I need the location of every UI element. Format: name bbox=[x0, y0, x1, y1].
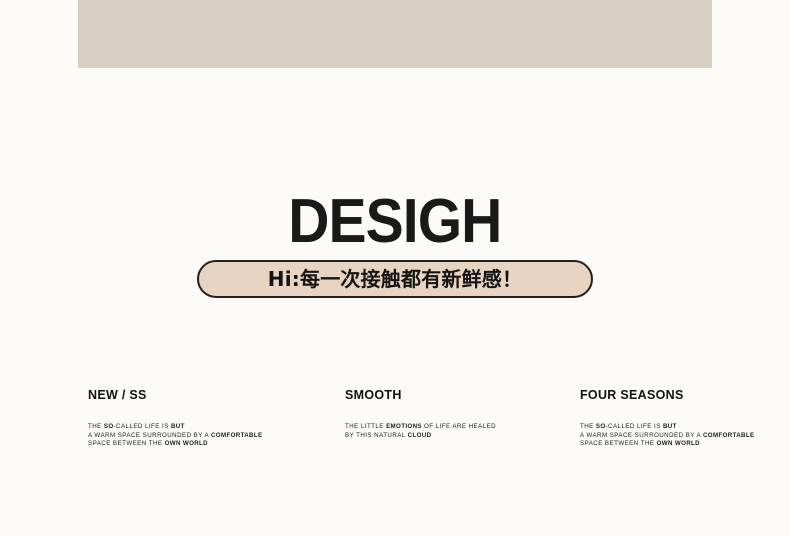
tagline-text: Hi:每一次接触都有新鲜感！ bbox=[268, 268, 522, 290]
feature-body: THE SO-CALLED LIFE IS BUTA WARM SPACE SU… bbox=[88, 423, 318, 449]
feature-body-line: THE LITTLE EMOTIONS OF LIFE ARE HEALED bbox=[345, 423, 560, 432]
page-root: DESIGH Hi:每一次接触都有新鲜感！ NEW / SS THE SO-CA… bbox=[0, 0, 790, 536]
tagline-pill: Hi:每一次接触都有新鲜感！ bbox=[197, 260, 593, 298]
feature-title: NEW / SS bbox=[88, 388, 318, 402]
feature-body-line: A WARM SPACE SURROUNDED BY A COMFORTABLE bbox=[88, 432, 318, 441]
feature-body-line: THE SO-CALLED LIFE IS BUT bbox=[88, 423, 318, 432]
feature-body-line: SPACE BETWEEN THE OWN WORLD bbox=[580, 440, 785, 449]
feature-body-line: A WARM SPACE SURROUNDED BY A COMFORTABLE bbox=[580, 432, 785, 441]
feature-columns: NEW / SS THE SO-CALLED LIFE IS BUTA WARM… bbox=[0, 388, 790, 488]
tagline-container: Hi:每一次接触都有新鲜感！ bbox=[0, 260, 790, 298]
feature-title: FOUR SEASONS bbox=[580, 388, 785, 402]
feature-column-smooth: SMOOTH THE LITTLE EMOTIONS OF LIFE ARE H… bbox=[345, 388, 560, 440]
feature-column-four-seasons: FOUR SEASONS THE SO-CALLED LIFE IS BUTA … bbox=[580, 388, 785, 449]
feature-body-line: SPACE BETWEEN THE OWN WORLD bbox=[88, 440, 318, 449]
feature-title: SMOOTH bbox=[345, 388, 560, 402]
feature-body: THE LITTLE EMOTIONS OF LIFE ARE HEALEDBY… bbox=[345, 423, 560, 440]
feature-column-new-ss: NEW / SS THE SO-CALLED LIFE IS BUTA WARM… bbox=[88, 388, 318, 449]
page-title: DESIGH bbox=[288, 190, 501, 254]
feature-body: THE SO-CALLED LIFE IS BUTA WARM SPACE SU… bbox=[580, 423, 785, 449]
top-decorative-band bbox=[78, 0, 712, 68]
feature-body-line: THE SO-CALLED LIFE IS BUT bbox=[580, 423, 785, 432]
feature-body-line: BY THIS NATURAL CLOUD bbox=[345, 432, 560, 441]
